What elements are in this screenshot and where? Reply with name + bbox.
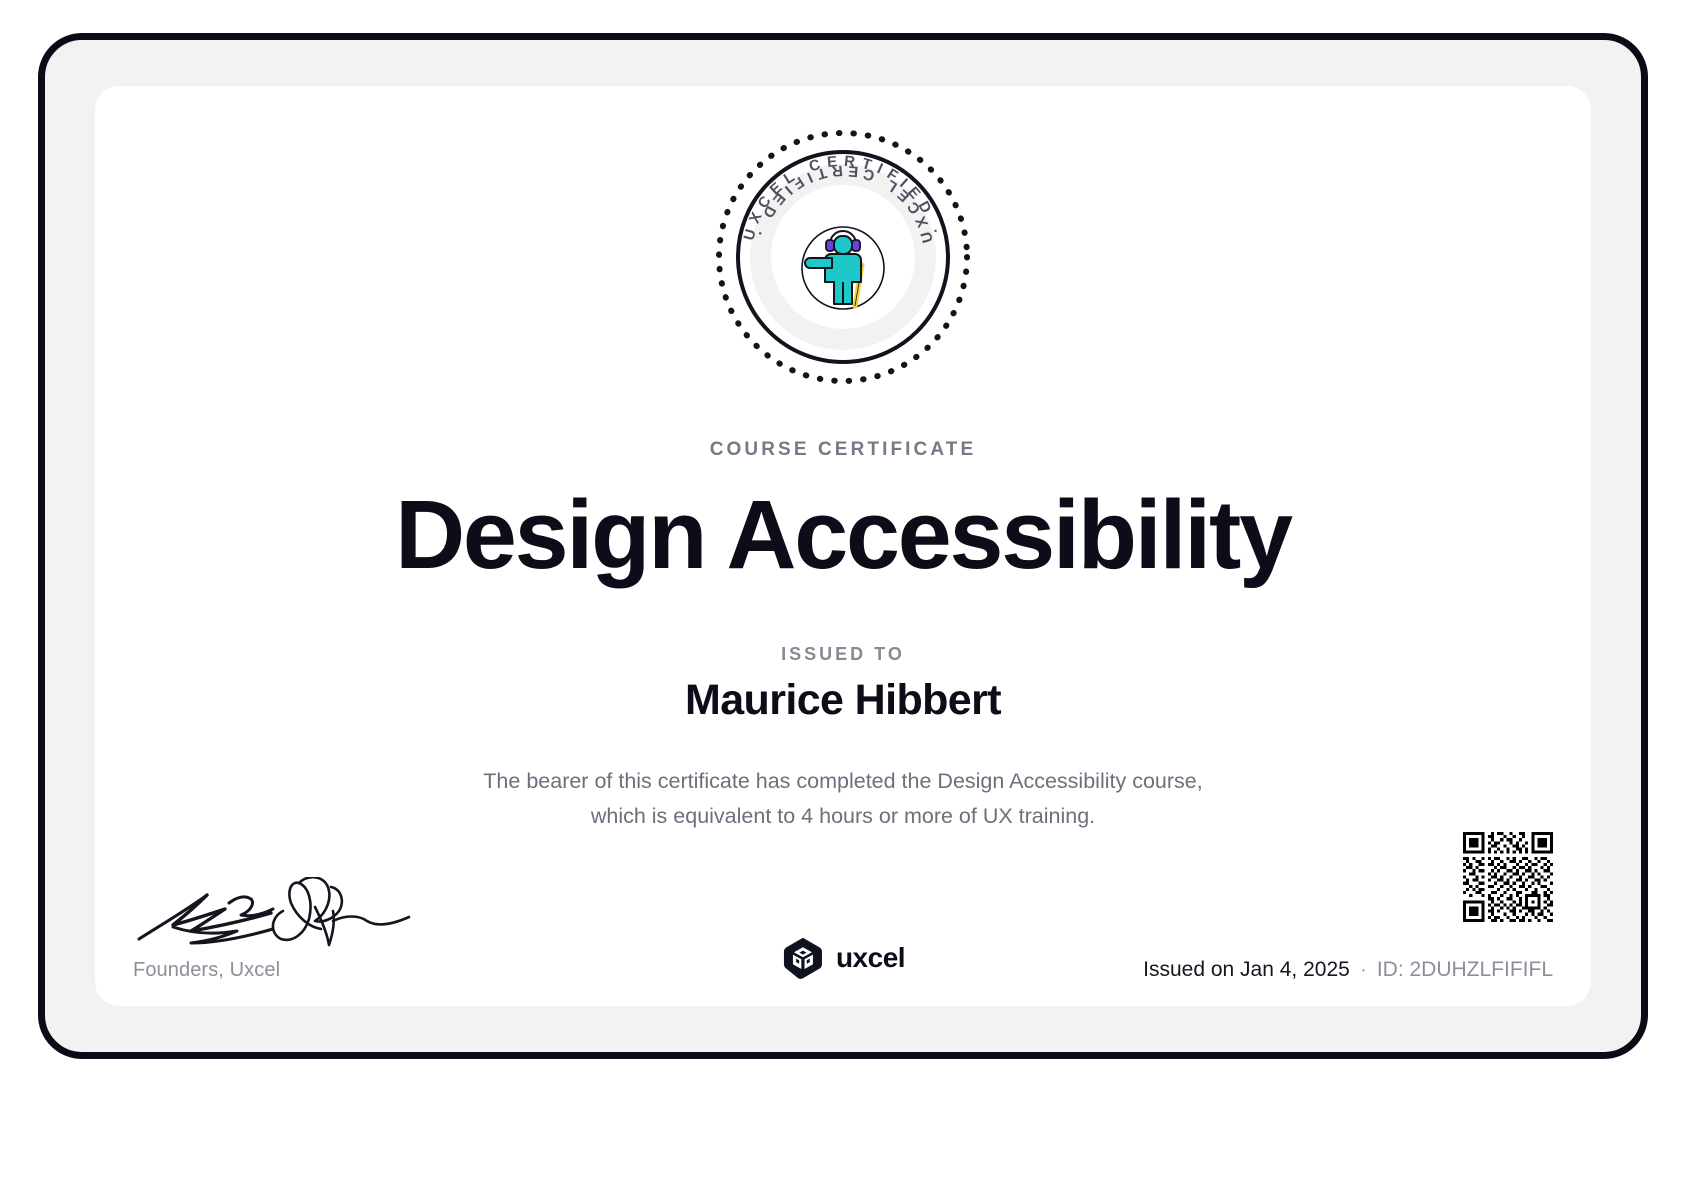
uxcel-brand-logo: uxcel bbox=[781, 936, 905, 980]
seal-figure-head bbox=[834, 236, 852, 254]
verification-qr-code[interactable] bbox=[1463, 832, 1553, 922]
course-certificate-eyebrow: COURSE CERTIFICATE bbox=[95, 439, 1591, 461]
founders-signature-block: Founders, Uxcel bbox=[133, 877, 463, 982]
seal-figure-earcup-left bbox=[826, 240, 834, 251]
founders-signature-caption: Founders, Uxcel bbox=[133, 959, 463, 982]
founders-signature-icon bbox=[133, 877, 433, 955]
seal-figure-arm bbox=[805, 258, 832, 268]
certificate-frame: UXCEL CERTIFIED · UXCEL CERTIFIED · bbox=[38, 33, 1648, 1059]
certificate-card: UXCEL CERTIFIED · UXCEL CERTIFIED · bbox=[95, 86, 1591, 1006]
uxcel-hexagon-logo-icon bbox=[781, 936, 825, 980]
issued-date: Issued on Jan 4, 2025 bbox=[1143, 958, 1350, 982]
certificate-id: ID: 2DUHZLFIFIFL bbox=[1377, 958, 1553, 982]
qr-code-icon bbox=[1463, 832, 1553, 922]
certificate-meta: Issued on Jan 4, 2025 · ID: 2DUHZLFIFIFL bbox=[1143, 958, 1553, 982]
uxcel-wordmark: uxcel bbox=[836, 942, 905, 974]
certificate-footer: Founders, Uxcel uxc bbox=[95, 816, 1591, 1006]
issued-to-eyebrow: ISSUED TO bbox=[95, 644, 1591, 665]
seal-figure-earcup-right bbox=[852, 240, 860, 251]
uxcel-certified-seal-badge: UXCEL CERTIFIED · UXCEL CERTIFIED · bbox=[712, 126, 974, 388]
page-title: Design Accessibility bbox=[95, 484, 1591, 586]
description-line-1: The bearer of this certificate has compl… bbox=[393, 764, 1293, 799]
meta-separator: · bbox=[1360, 958, 1367, 982]
recipient-name: Maurice Hibbert bbox=[95, 676, 1591, 725]
